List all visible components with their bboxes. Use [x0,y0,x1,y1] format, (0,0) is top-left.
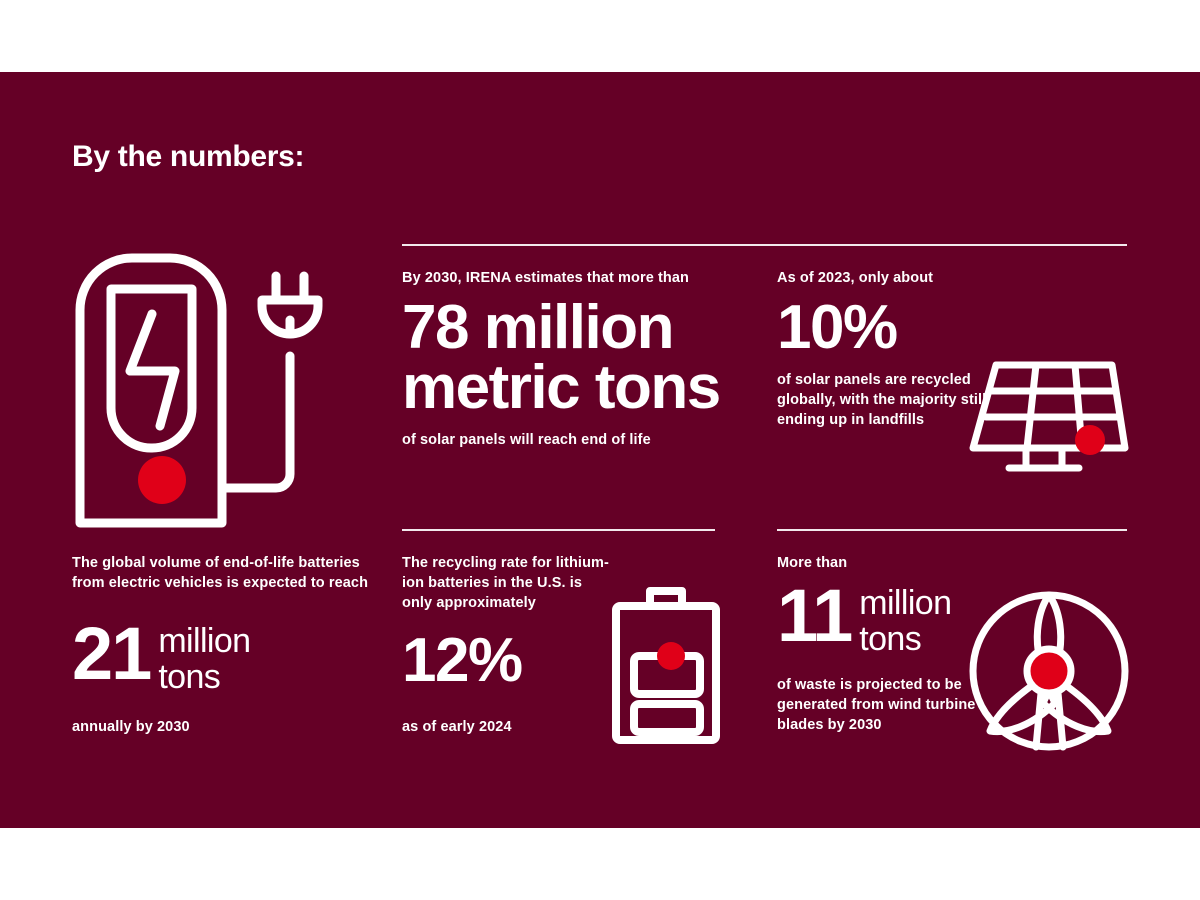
stat-lead: As of 2023, only about [777,268,992,288]
accent-dot [1027,649,1071,693]
infographic-canvas: By the numbers: [0,0,1200,900]
stat-footnote: of solar panels will reach end of life [402,430,732,450]
stat-value: 10% [777,298,992,358]
stat-lead: The global volume of end-of-life batteri… [72,553,372,593]
stat-solar-recycled: As of 2023, only about 10% of solar pane… [777,268,992,430]
stat-ev-batteries: The global volume of end-of-life batteri… [72,553,372,737]
stat-value-line2: metric tons [402,358,732,418]
accent-dot [1075,425,1105,455]
divider-bottom-right [777,529,1127,531]
stat-lead: More than [777,553,1002,573]
stat-value-line1: 78 million [402,298,732,358]
stat-unit-line1: million [859,585,951,621]
stat-lithium-recycling: The recycling rate for lithium-ion batte… [402,553,612,737]
stat-lead: The recycling rate for lithium-ion batte… [402,553,612,613]
stat-value-group: 11 million tons [777,581,1002,657]
stat-unit-line2: tons [158,659,250,695]
stat-footnote: as of early 2024 [402,717,612,737]
stat-unit-line1: million [158,623,250,659]
stat-number: 21 [72,619,150,689]
stat-value: 12% [402,631,612,691]
battery-icon [608,583,728,748]
stat-footnote: annually by 2030 [72,717,372,737]
divider-bottom-middle [402,529,715,531]
divider-top [402,244,1127,246]
page-title: By the numbers: [72,140,304,174]
stat-footnote: of waste is projected to be generated fr… [777,675,1002,735]
stat-solar-end-of-life: By 2030, IRENA estimates that more than … [402,268,732,450]
stat-unit-line2: tons [859,621,951,657]
stat-number: 11 [777,581,851,651]
accent-dot [657,642,685,670]
stat-lead: By 2030, IRENA estimates that more than [402,268,732,288]
ev-charger-icon [70,248,345,533]
accent-dot [138,456,186,504]
stat-footnote: of solar panels are recycled globally, w… [777,370,992,430]
stat-wind-blades: More than 11 million tons of waste is pr… [777,553,1002,735]
stat-value-group: 21 million tons [72,619,372,695]
